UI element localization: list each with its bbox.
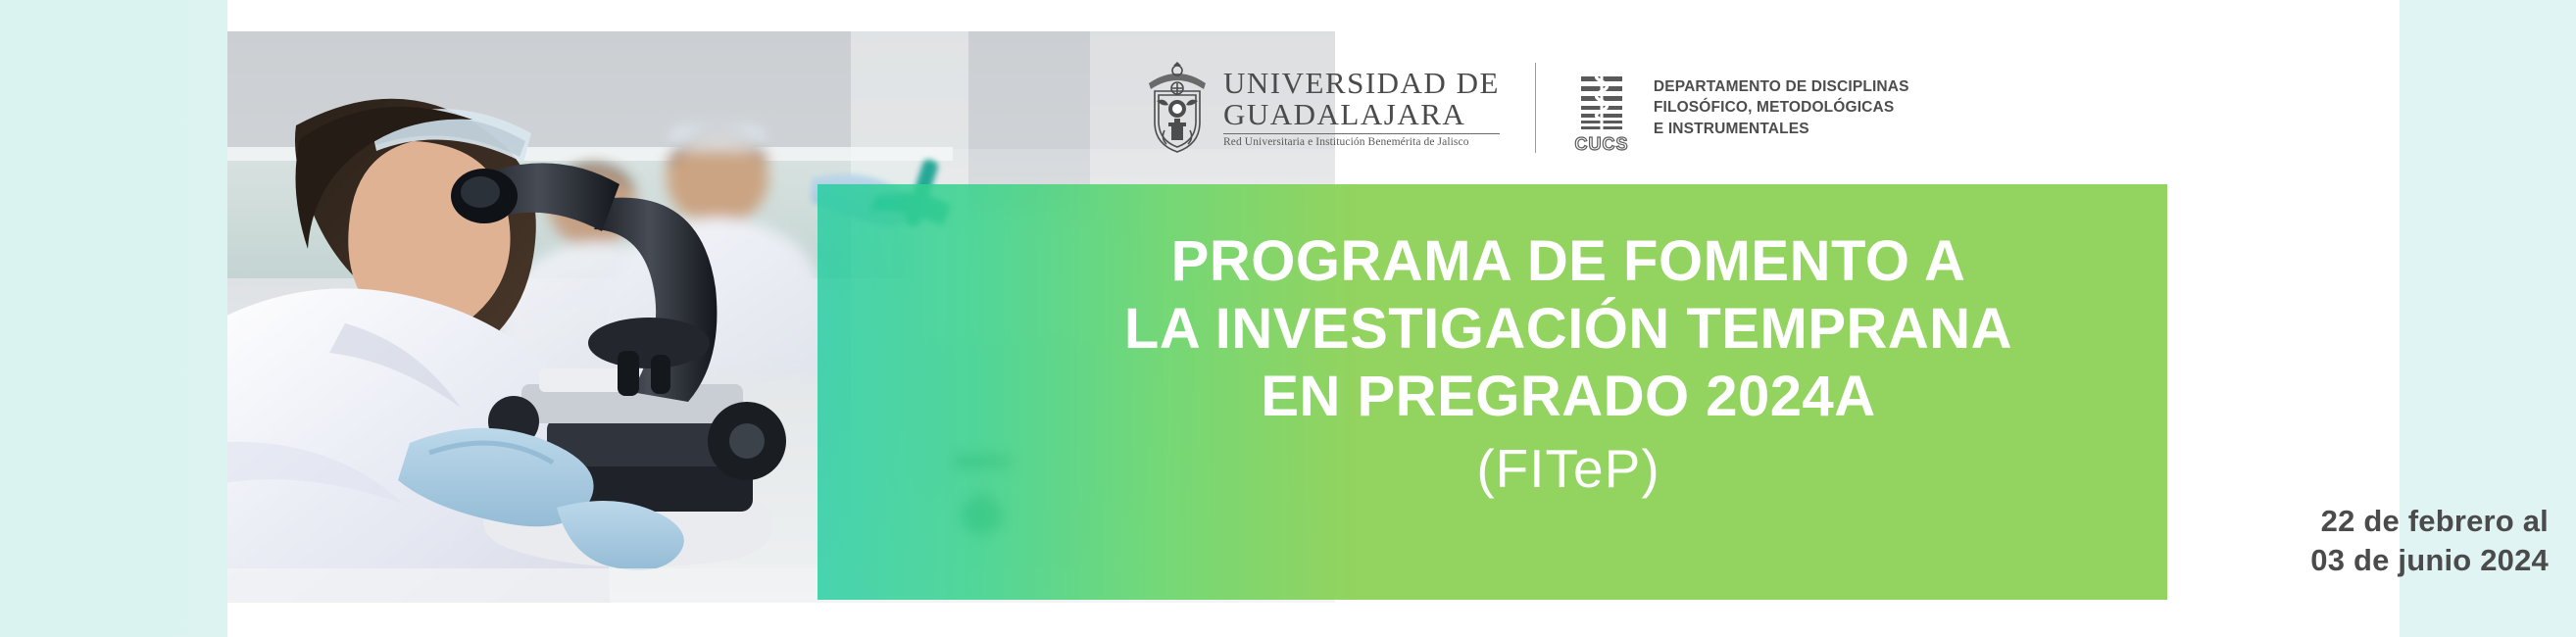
- center-logo-lockup: CUCS DEPARTAMENTO DE DISCIPLINAS FILOSÓF…: [1571, 59, 1909, 157]
- svg-text:CUCS: CUCS: [1574, 134, 1628, 154]
- department-line-3: E INSTRUMENTALES: [1654, 119, 1909, 139]
- date-line-2: 03 de junio 2024: [2147, 541, 2549, 580]
- title-line-3: EN PREGRADO 2024A: [990, 363, 2147, 430]
- logo-divider: [1535, 63, 1536, 153]
- logo-bar: UNIVERSIDAD DE GUADALAJARA Red Universit…: [1145, 57, 1909, 159]
- title-line-2: LA INVESTIGACIÓN TEMPRANA: [990, 295, 2147, 363]
- department-line-2: FILOSÓFICO, METODOLÓGICAS: [1654, 97, 1909, 118]
- university-wordmark: UNIVERSIDAD DE GUADALAJARA Red Universit…: [1223, 68, 1500, 147]
- program-title: PROGRAMA DE FOMENTO A LA INVESTIGACIÓN T…: [990, 227, 2147, 502]
- university-name-line2: GUADALAJARA: [1223, 99, 1500, 130]
- program-acronym: (FITeP): [990, 436, 2147, 502]
- date-range: 22 de febrero al 03 de junio 2024: [2147, 502, 2549, 581]
- promo-banner: UNIVERSIDAD DE GUADALAJARA Red Universit…: [0, 0, 2576, 637]
- department-line-1: DEPARTAMENTO DE DISCIPLINAS: [1654, 76, 1909, 97]
- cucs-caduceus-icon: CUCS: [1571, 59, 1632, 157]
- title-line-1: PROGRAMA DE FOMENTO A: [990, 227, 2147, 295]
- date-line-1: 22 de febrero al: [2147, 502, 2549, 541]
- udg-shield-icon: [1145, 62, 1210, 154]
- department-name: DEPARTAMENTO DE DISCIPLINAS FILOSÓFICO, …: [1654, 76, 1909, 139]
- wordmark-rule: [1223, 133, 1500, 134]
- university-tagline: Red Universitaria e Institución Beneméri…: [1223, 136, 1500, 148]
- university-logo-lockup: UNIVERSIDAD DE GUADALAJARA Red Universit…: [1145, 62, 1500, 154]
- university-name-line1: UNIVERSIDAD DE: [1223, 68, 1500, 99]
